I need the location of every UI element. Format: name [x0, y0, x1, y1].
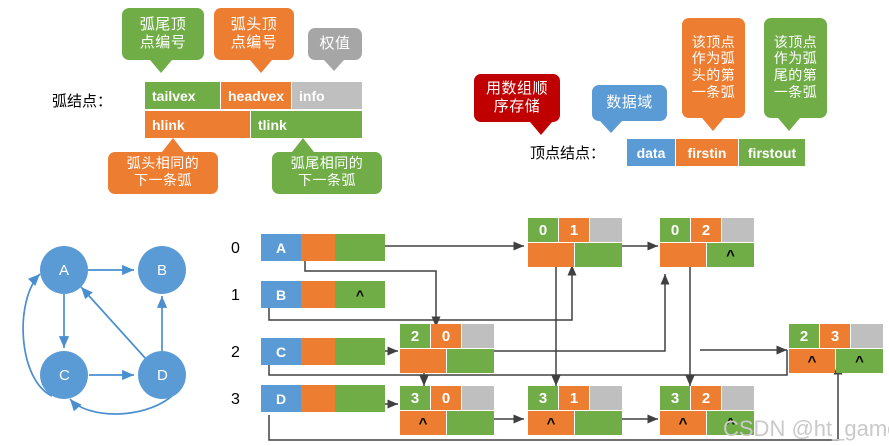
arc-3-2-hlink[interactable]: ^	[660, 411, 706, 435]
arc-struct-hlink: hlink	[145, 111, 250, 138]
callout-array-note: 用数组顺 序存储	[474, 74, 560, 122]
vertex-struct-firstout: firstout	[739, 139, 805, 166]
arc-3-0-hlink[interactable]: ^	[400, 411, 446, 435]
arc-struct-tailvex: tailvex	[145, 82, 220, 109]
diagram-canvas: 弧尾顶 点编号 弧头顶 点编号 权值 弧结点： tailvex headvex …	[0, 0, 889, 446]
vertex-row-index-0: 0	[231, 240, 240, 258]
callout-firstout-text: 该顶点 作为弧 尾的第 一条弧	[770, 35, 822, 101]
callout-hlink-note: 弧头相同的 下一条弧	[108, 152, 218, 194]
callout-tailvex-text: 弧尾顶 点编号	[136, 16, 191, 51]
vertex-row-data-2: C	[261, 338, 301, 365]
callout-tlink-note: 弧尾相同的 下一条弧	[272, 152, 382, 194]
arc-0-1-tailvex: 0	[528, 218, 558, 242]
vertex-node-label: 顶点结点：	[530, 142, 605, 163]
callout-array-text: 用数组顺 序存储	[482, 80, 552, 115]
vertex-row-firstin-2[interactable]	[301, 338, 335, 365]
callout-info-text: 权值	[315, 35, 354, 53]
arc-3-1-tailvex: 3	[528, 386, 558, 410]
arc-3-1-headvex: 1	[559, 386, 589, 410]
callout-hlink-text: 弧头相同的 下一条弧	[123, 156, 204, 189]
arc-0-1-info	[590, 218, 622, 242]
arc-3-0-tlink[interactable]	[447, 411, 494, 435]
vertex-row-firstout-0[interactable]	[335, 234, 385, 261]
arc-2-0-tailvex: 2	[400, 324, 430, 348]
arc-3-0-info	[462, 386, 494, 410]
callout-tailvex-note: 弧尾顶 点编号	[122, 8, 204, 60]
arc-struct-tlink: tlink	[251, 111, 362, 138]
arc-0-1-tlink[interactable]	[575, 243, 622, 267]
graph-vertex-B: B	[157, 262, 167, 279]
arc-2-3-tailvex: 2	[789, 324, 819, 348]
vertex-row-index-2: 2	[231, 344, 240, 362]
arc-2-3-tlink[interactable]: ^	[836, 349, 883, 373]
vertex-struct-data: data	[627, 139, 675, 166]
callout-tail	[600, 121, 622, 133]
arc-0-2-info	[722, 218, 754, 242]
arc-3-2-tailvex: 3	[660, 386, 690, 410]
arc-2-0-hlink[interactable]	[400, 349, 446, 373]
arc-2-3-hlink[interactable]: ^	[789, 349, 835, 373]
graph-vertex-D: D	[157, 367, 168, 384]
arc-3-2-info	[722, 386, 754, 410]
arc-0-2-tailvex: 0	[660, 218, 690, 242]
arc-0-1-headvex: 1	[559, 218, 589, 242]
vertex-row-firstin-1[interactable]	[301, 281, 335, 308]
arc-3-1-hlink[interactable]: ^	[528, 411, 574, 435]
callout-headvex-note: 弧头顶 点编号	[214, 8, 294, 60]
vertex-row-index-3: 3	[231, 391, 240, 409]
arc-struct-headvex: headvex	[221, 82, 291, 109]
arc-3-0-tailvex: 3	[400, 386, 430, 410]
vertex-row-index-1: 1	[231, 287, 240, 305]
callout-tail	[530, 122, 552, 135]
arc-0-2-hlink[interactable]	[660, 243, 706, 267]
callout-tail	[162, 138, 184, 152]
callout-tlink-text: 弧尾相同的 下一条弧	[287, 156, 368, 189]
callout-tail	[702, 118, 724, 131]
arc-struct-info: info	[292, 82, 362, 109]
vertex-row-firstout-1[interactable]: ^	[335, 281, 385, 308]
arc-2-0-info	[462, 324, 494, 348]
callout-firstin-text: 该顶点 作为弧 头的第 一条弧	[688, 35, 740, 101]
vertex-row-firstout-2[interactable]	[335, 338, 385, 365]
vertex-row-data-3: D	[261, 385, 301, 412]
graph-vertex-A: A	[59, 262, 69, 279]
arc-0-2-tlink[interactable]: ^	[707, 243, 754, 267]
arc-2-0-tlink[interactable]	[447, 349, 494, 373]
callout-tail	[250, 60, 272, 73]
callout-tail	[778, 118, 800, 131]
arc-2-3-headvex: 3	[820, 324, 850, 348]
arc-3-1-info	[590, 386, 622, 410]
callout-tail	[324, 60, 344, 71]
callout-data-text: 数据域	[602, 94, 657, 112]
callout-info-note: 权值	[308, 28, 362, 60]
callout-data-note: 数据域	[592, 85, 667, 121]
graph-drawing	[0, 0, 889, 446]
callout-firstout-note: 该顶点 作为弧 尾的第 一条弧	[764, 18, 827, 118]
vertex-row-data-1: B	[261, 281, 301, 308]
callout-headvex-text: 弧头顶 点编号	[227, 16, 282, 51]
callout-firstin-note: 该顶点 作为弧 头的第 一条弧	[682, 18, 745, 118]
arc-node-label: 弧结点：	[52, 90, 112, 111]
arc-2-0-headvex: 0	[431, 324, 461, 348]
arc-0-1-hlink[interactable]	[528, 243, 574, 267]
vertex-row-firstin-0[interactable]	[301, 234, 335, 261]
arc-3-0-headvex: 0	[431, 386, 461, 410]
arc-0-2-headvex: 2	[691, 218, 721, 242]
callout-tail	[150, 60, 172, 73]
vertex-row-firstin-3[interactable]	[301, 385, 335, 412]
vertex-row-data-0: A	[261, 234, 301, 261]
watermark: CSDN @ht_game	[723, 416, 889, 442]
arc-3-2-headvex: 2	[691, 386, 721, 410]
arc-2-3-info	[851, 324, 883, 348]
vertex-struct-firstin: firstin	[676, 139, 738, 166]
arc-3-1-tlink[interactable]	[575, 411, 622, 435]
vertex-row-firstout-3[interactable]	[335, 385, 385, 412]
graph-vertex-C: C	[59, 367, 70, 384]
callout-tail	[292, 138, 314, 152]
